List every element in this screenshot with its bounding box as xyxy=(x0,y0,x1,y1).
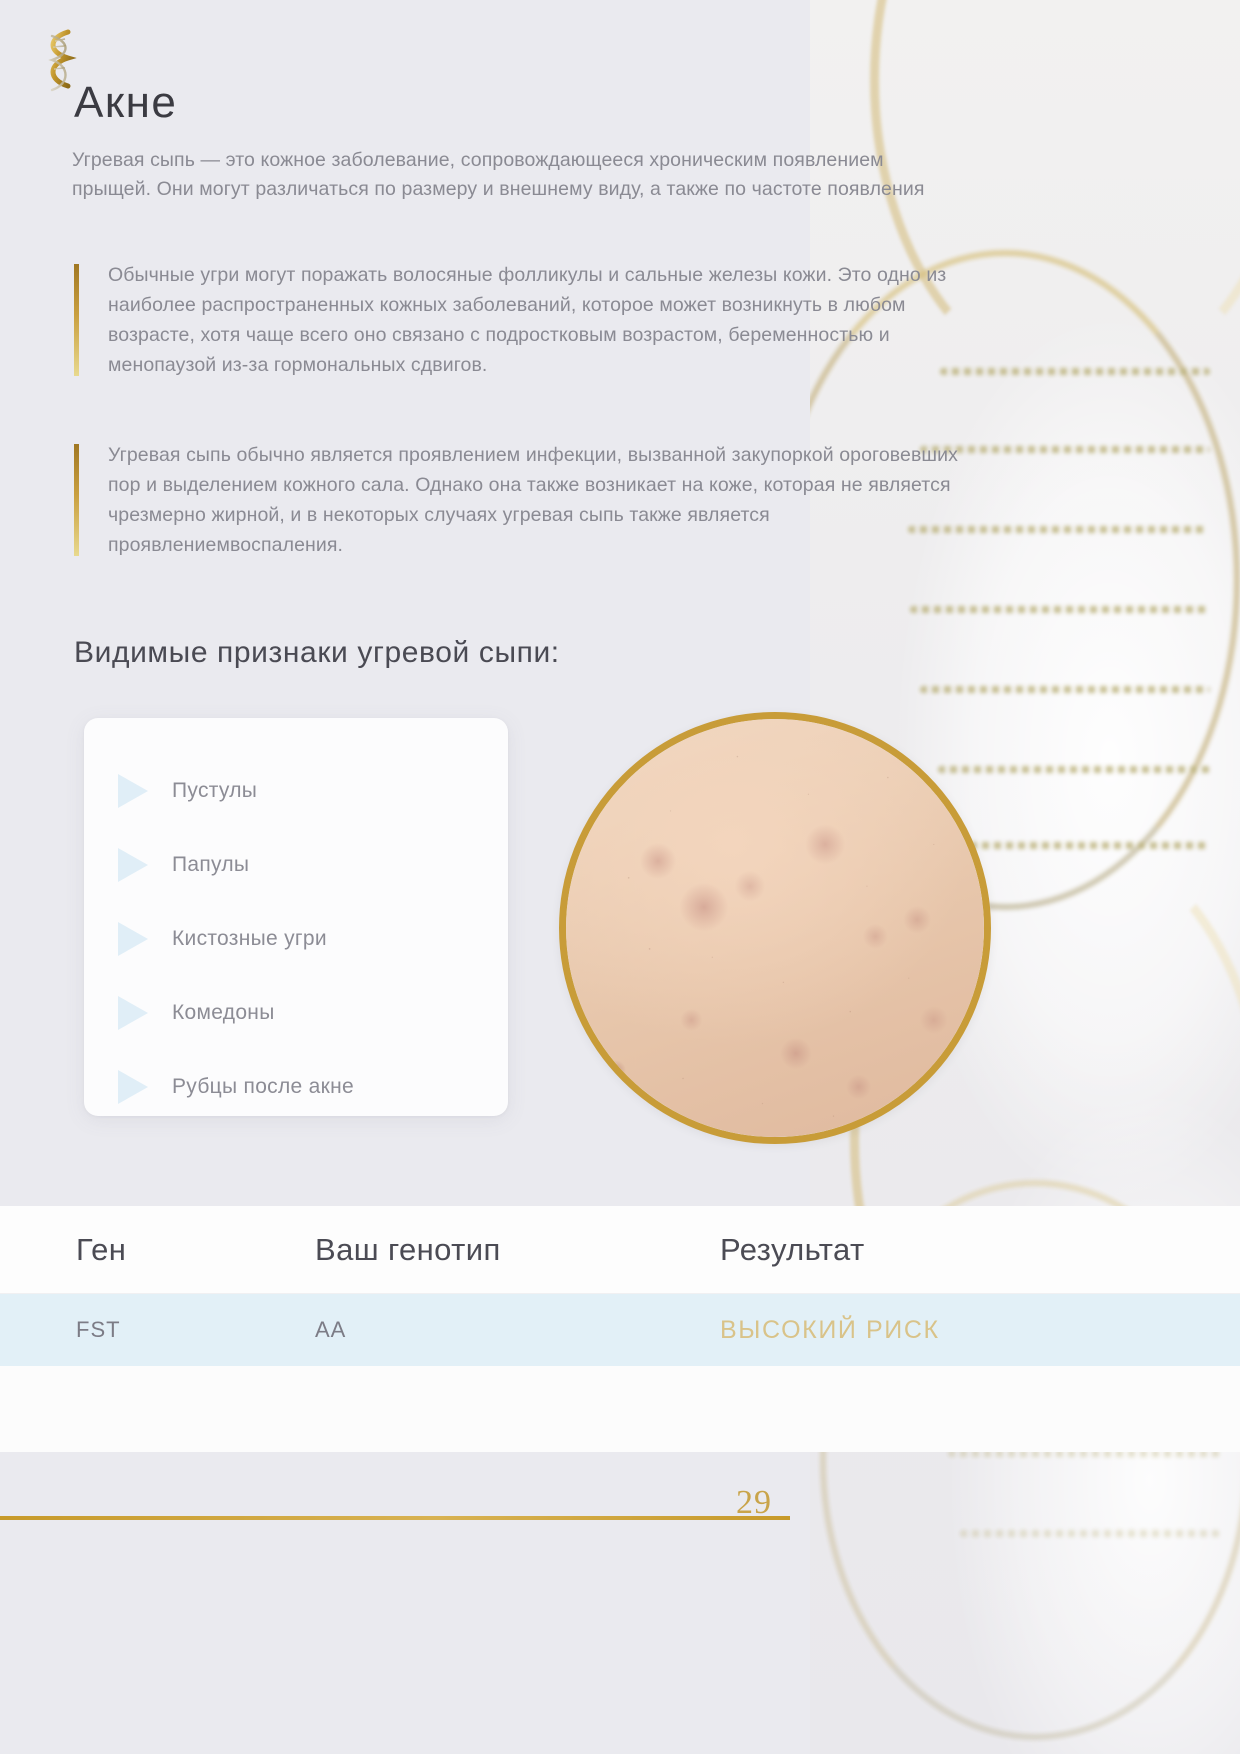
triangle-bullet-icon xyxy=(118,996,148,1030)
cell-genotype: AA xyxy=(315,1317,720,1343)
quote-block-2: Угревая сыпь обычно является проявлением… xyxy=(74,440,960,560)
footer-divider xyxy=(0,1516,790,1520)
dna-helix-icon xyxy=(38,28,82,96)
triangle-bullet-icon xyxy=(118,922,148,956)
page-title: Акне xyxy=(74,78,177,128)
list-item-label: Рубцы после акне xyxy=(172,1075,354,1099)
intro-paragraph: Угревая сыпь — это кожное заболевание, с… xyxy=(72,146,952,204)
cell-gene: FST xyxy=(0,1317,315,1343)
acne-skin-closeup-photo xyxy=(559,712,991,1144)
list-item: Пустулы xyxy=(84,754,508,828)
list-item-label: Кистозные угри xyxy=(172,927,327,951)
results-table: Ген Ваш генотип Результат FST AA ВЫСОКИЙ… xyxy=(0,1206,1240,1452)
skin-speckle-overlay xyxy=(566,719,984,1137)
signs-section-title: Видимые признаки угревой сыпи: xyxy=(74,636,560,670)
list-item-label: Комедоны xyxy=(172,1001,275,1025)
column-header-result: Результат xyxy=(720,1232,1240,1268)
list-item: Рубцы после акне xyxy=(84,1050,508,1124)
quote-block-1: Обычные угри могут поражать волосяные фо… xyxy=(74,260,960,380)
list-item-label: Пустулы xyxy=(172,779,257,803)
table-footer-spacer xyxy=(0,1366,1240,1452)
list-item: Комедоны xyxy=(84,976,508,1050)
triangle-bullet-icon xyxy=(118,848,148,882)
column-header-gene: Ген xyxy=(0,1232,315,1268)
triangle-bullet-icon xyxy=(118,1070,148,1104)
document-page: Акне Угревая сыпь — это кожное заболеван… xyxy=(0,0,1240,1754)
visible-signs-card: Пустулы Папулы Кистозные угри Комедоны Р… xyxy=(84,718,508,1116)
triangle-bullet-icon xyxy=(118,774,148,808)
status-badge: ВЫСОКИЙ РИСК xyxy=(720,1316,1240,1345)
column-header-genotype: Ваш генотип xyxy=(315,1232,720,1268)
list-item: Папулы xyxy=(84,828,508,902)
list-item: Кистозные угри xyxy=(84,902,508,976)
page-number: 29 xyxy=(736,1484,772,1522)
table-row: FST AA ВЫСОКИЙ РИСК xyxy=(0,1294,1240,1366)
list-item-label: Папулы xyxy=(172,853,249,877)
table-header-row: Ген Ваш генотип Результат xyxy=(0,1206,1240,1294)
